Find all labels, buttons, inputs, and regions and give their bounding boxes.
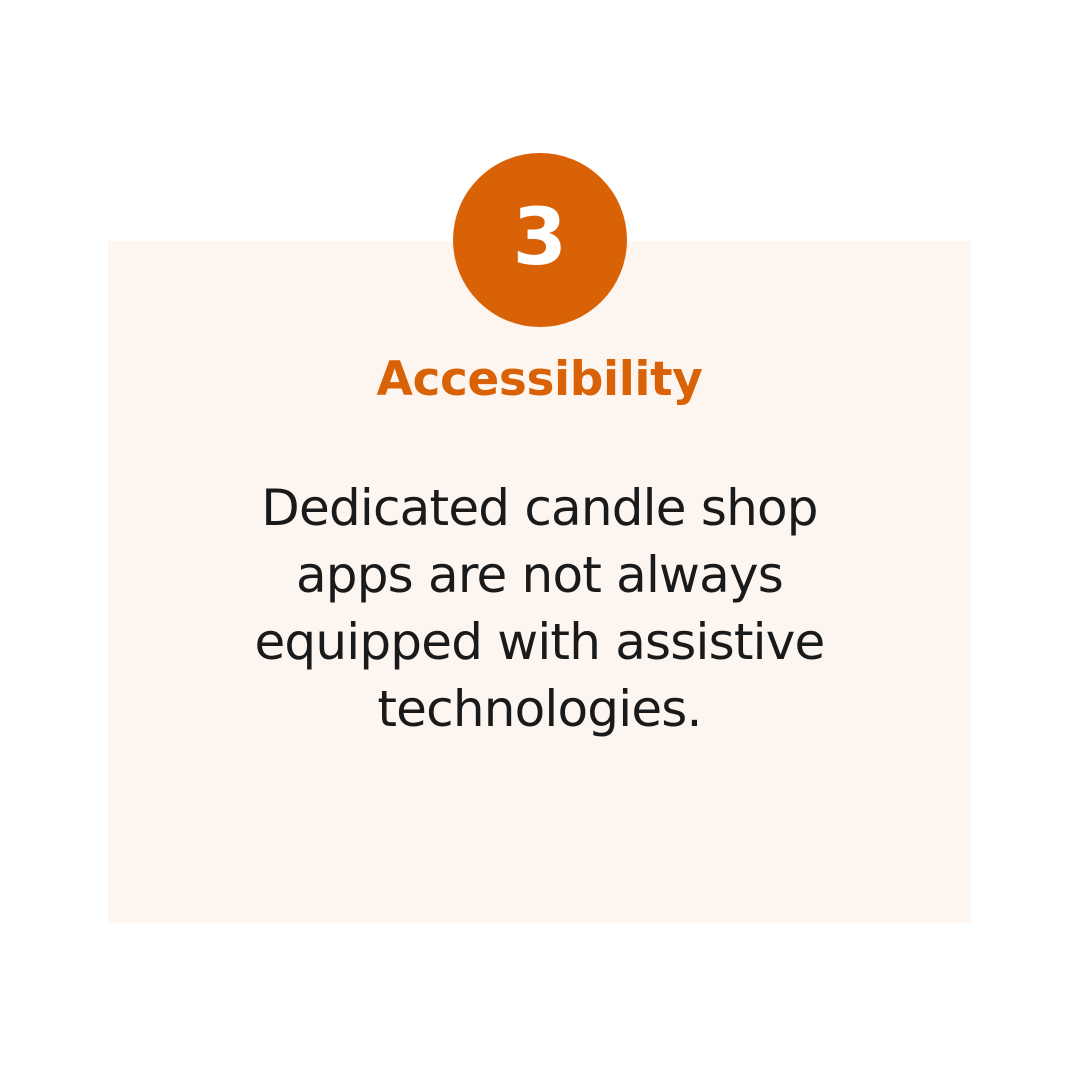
card-heading: Accessibility (108, 354, 971, 406)
slide-canvas: Accessibility Dedicated candle shop apps… (0, 0, 1080, 1080)
step-number-label: 3 (513, 199, 568, 277)
card-content: Accessibility Dedicated candle shop apps… (108, 241, 971, 923)
info-card: Accessibility Dedicated candle shop apps… (108, 241, 971, 923)
step-number-badge: 3 (453, 153, 627, 327)
card-body-text: Dedicated candle shop apps are not alway… (130, 475, 949, 743)
